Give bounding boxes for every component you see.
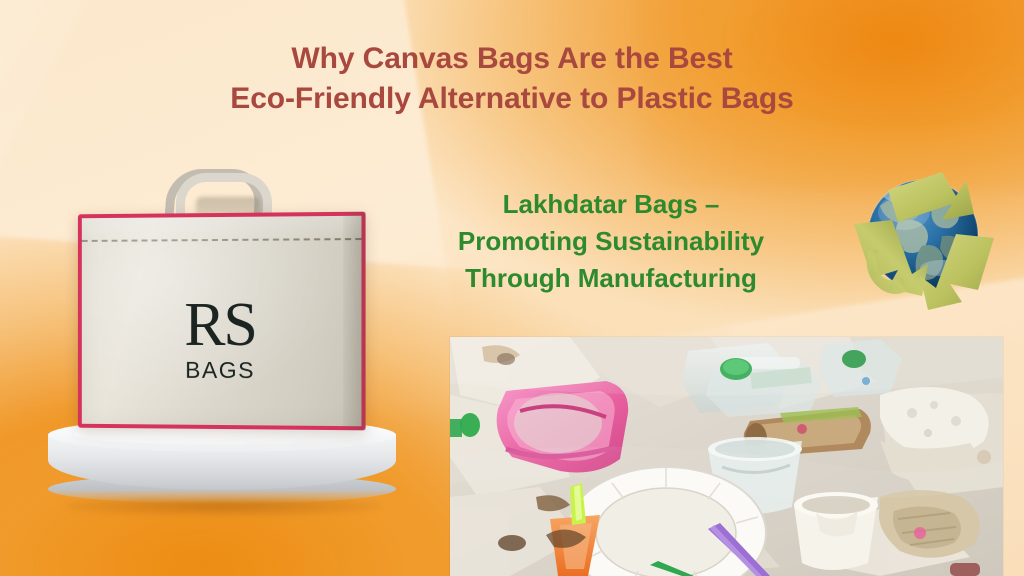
tote-bag: RS BAGS — [64, 167, 370, 439]
bag-logo-wordmark: BAGS — [82, 357, 362, 384]
plastic-waste-photo — [450, 337, 1003, 576]
headline-line-2: Eco-Friendly Alternative to Plastic Bags — [0, 79, 1024, 119]
canvas-tote-bag-photo: RS BAGS — [44, 155, 404, 515]
bag-top-band — [82, 216, 362, 240]
bag-logo: RS BAGS — [82, 295, 362, 384]
subheading-line-1: Lakhdatar Bags – — [386, 186, 836, 223]
earth-recycling-icon — [838, 150, 1008, 320]
bag-body: RS BAGS — [78, 212, 366, 431]
waste-paper-cup — [794, 492, 878, 570]
plastic-waste-svg — [450, 337, 1003, 576]
headline: Why Canvas Bags Are the Best Eco-Friendl… — [0, 39, 1024, 119]
subheading: Lakhdatar Bags – Promoting Sustainabilit… — [386, 186, 836, 297]
headline-line-1: Why Canvas Bags Are the Best — [0, 39, 1024, 79]
subheading-line-3: Through Manufacturing — [386, 260, 836, 297]
subheading-line-2: Promoting Sustainability — [386, 223, 836, 260]
bag-logo-monogram: RS — [82, 295, 362, 356]
promotional-banner: Why Canvas Bags Are the Best Eco-Friendl… — [0, 0, 1024, 576]
earth-recycling-svg — [838, 150, 1008, 320]
